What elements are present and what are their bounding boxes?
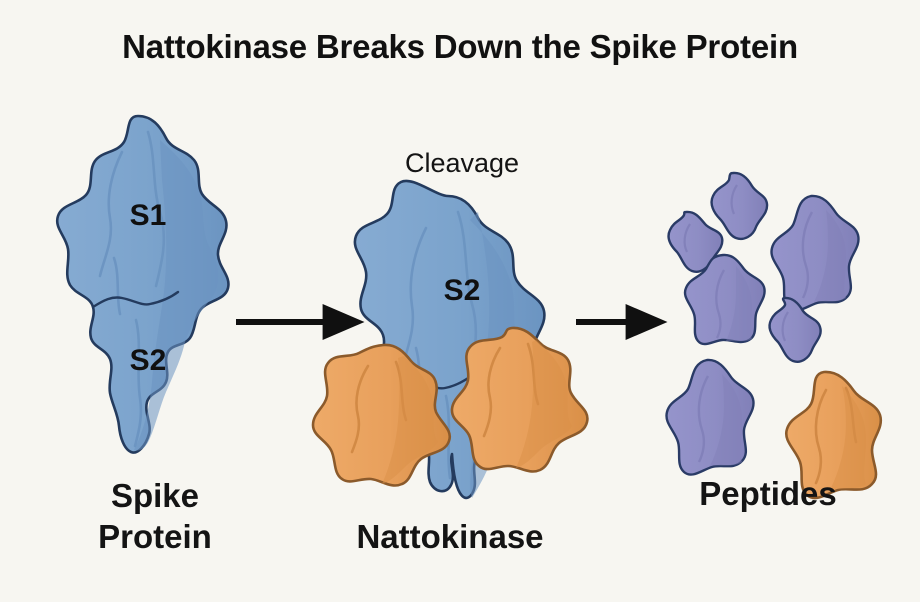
panel-label-spike-line2: Protein — [98, 518, 212, 555]
region-label-s2-complex: S2 — [444, 274, 481, 307]
region-label-s1: S1 — [130, 199, 167, 232]
figure-canvas: Nattokinase Breaks Down the Spike Protei… — [0, 0, 920, 602]
figure-title: Nattokinase Breaks Down the Spike Protei… — [122, 28, 798, 65]
diagram-svg: Nattokinase Breaks Down the Spike Protei… — [0, 0, 920, 602]
panel-label-nattokinase: Nattokinase — [356, 518, 543, 555]
cleavage-annotation: Cleavage — [405, 148, 519, 178]
panel-label-spike-line1: Spike — [111, 477, 199, 514]
region-label-s2: S2 — [130, 344, 167, 377]
panel-label-peptides: Peptides — [699, 475, 837, 512]
